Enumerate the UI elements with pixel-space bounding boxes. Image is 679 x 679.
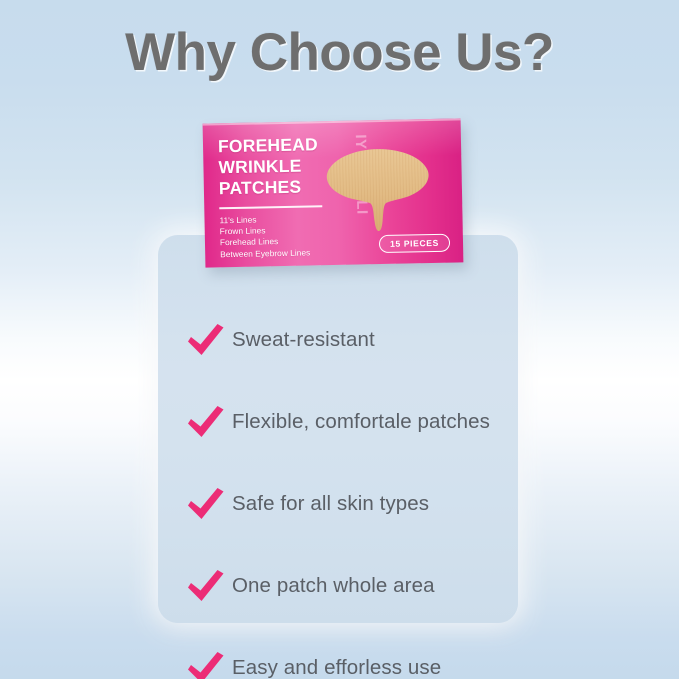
- check-icon: [186, 402, 232, 442]
- product-box-image: FOREHEAD WRINKLE PATCHES 11's Lines Frow…: [203, 118, 464, 267]
- pieces-count-badge: 15 PIECES: [379, 234, 450, 253]
- list-item: Flexible, comfortale patches: [186, 394, 506, 449]
- poster-canvas: Why Choose Us? Sweat-resistant Flexible,…: [0, 0, 679, 679]
- list-item-label: Safe for all skin types: [232, 492, 429, 516]
- product-title-line-2: WRINKLE: [218, 155, 318, 178]
- wrinkle-patch-graphic: [323, 146, 433, 234]
- check-icon: [186, 320, 232, 360]
- list-item-label: Sweat-resistant: [232, 328, 375, 352]
- check-icon: [186, 566, 232, 606]
- box-top-edge: [203, 118, 461, 125]
- check-icon: [186, 648, 232, 679]
- list-item: Safe for all skin types: [186, 476, 506, 531]
- list-item-label: One patch whole area: [232, 574, 435, 598]
- list-item-label: Easy and efforless use: [232, 656, 441, 679]
- list-item: Easy and efforless use: [186, 640, 506, 679]
- list-item: One patch whole area: [186, 558, 506, 613]
- product-box-bullets: 11's Lines Frown Lines Forehead Lines Be…: [219, 213, 310, 260]
- title-divider: [219, 205, 322, 209]
- product-title-line-3: PATCHES: [219, 176, 319, 199]
- product-box-title: FOREHEAD WRINKLE PATCHES: [218, 134, 319, 199]
- page-title: Why Choose Us?: [0, 22, 679, 83]
- check-icon: [186, 484, 232, 524]
- list-item: Sweat-resistant: [186, 312, 506, 367]
- product-title-line-1: FOREHEAD: [218, 134, 318, 157]
- features-list: Sweat-resistant Flexible, comfortale pat…: [186, 312, 506, 679]
- list-item-label: Flexible, comfortale patches: [232, 410, 490, 434]
- product-bullet-4: Between Eyebrow Lines: [220, 247, 310, 260]
